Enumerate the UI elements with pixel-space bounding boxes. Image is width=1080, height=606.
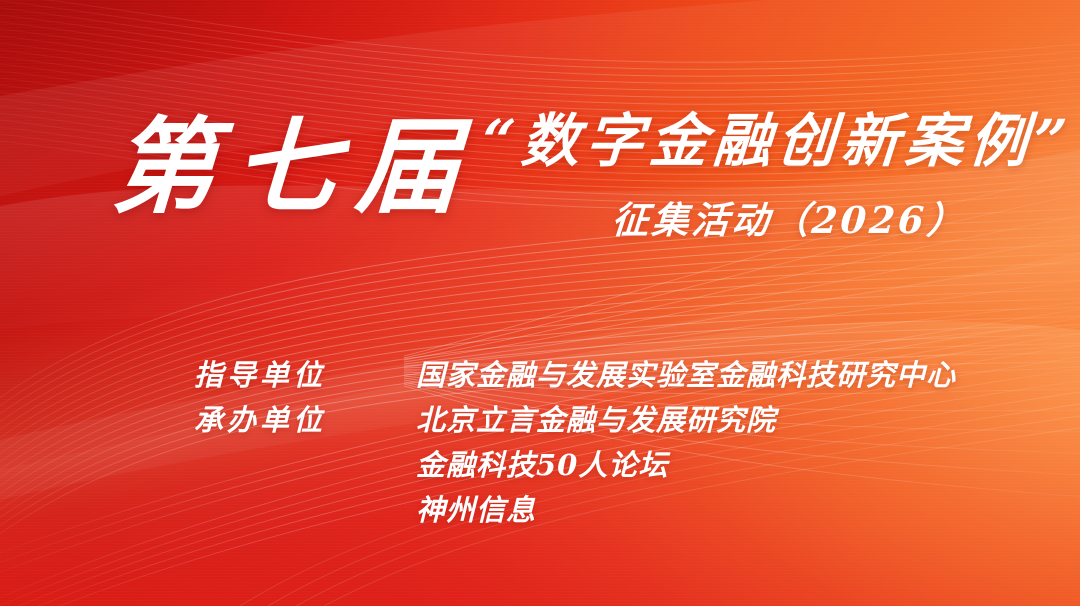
page-subtitle: 征集活动（2026） bbox=[610, 190, 969, 244]
credit-value-guidance: 国家金融与发展实验室金融科技研究中心 bbox=[416, 352, 956, 394]
credit-value-organizer-3: 神州信息 bbox=[416, 487, 536, 529]
credits-block: 指导单位 国家金融与发展实验室金融科技研究中心 承办单位 北京立言金融与发展研究… bbox=[0, 352, 1080, 532]
page-title-ordinal: 第七届 bbox=[109, 112, 481, 221]
credit-label-guidance: 指导单位 bbox=[194, 352, 326, 394]
title-block: 第七届 “数字金融创新案例” 征集活动（2026） bbox=[0, 104, 1080, 244]
credit-value-organizer-2: 金融科技50人论坛 bbox=[416, 442, 668, 484]
page-title-quoted: “数字金融创新案例” bbox=[480, 110, 1075, 174]
credit-row: 神州信息 bbox=[0, 487, 1080, 532]
credit-row: 金融科技50人论坛 bbox=[0, 442, 1080, 487]
credit-label-organizer: 承办单位 bbox=[194, 397, 326, 439]
credit-row: 承办单位 北京立言金融与发展研究院 bbox=[0, 397, 1080, 442]
poster-content: 第七届 “数字金融创新案例” 征集活动（2026） 指导单位 国家金融与发展实验… bbox=[0, 0, 1080, 606]
credit-value-organizer-1: 北京立言金融与发展研究院 bbox=[416, 397, 776, 439]
poster-canvas: 第七届 “数字金融创新案例” 征集活动（2026） 指导单位 国家金融与发展实验… bbox=[0, 0, 1080, 606]
credit-row: 指导单位 国家金融与发展实验室金融科技研究中心 bbox=[0, 352, 1080, 397]
